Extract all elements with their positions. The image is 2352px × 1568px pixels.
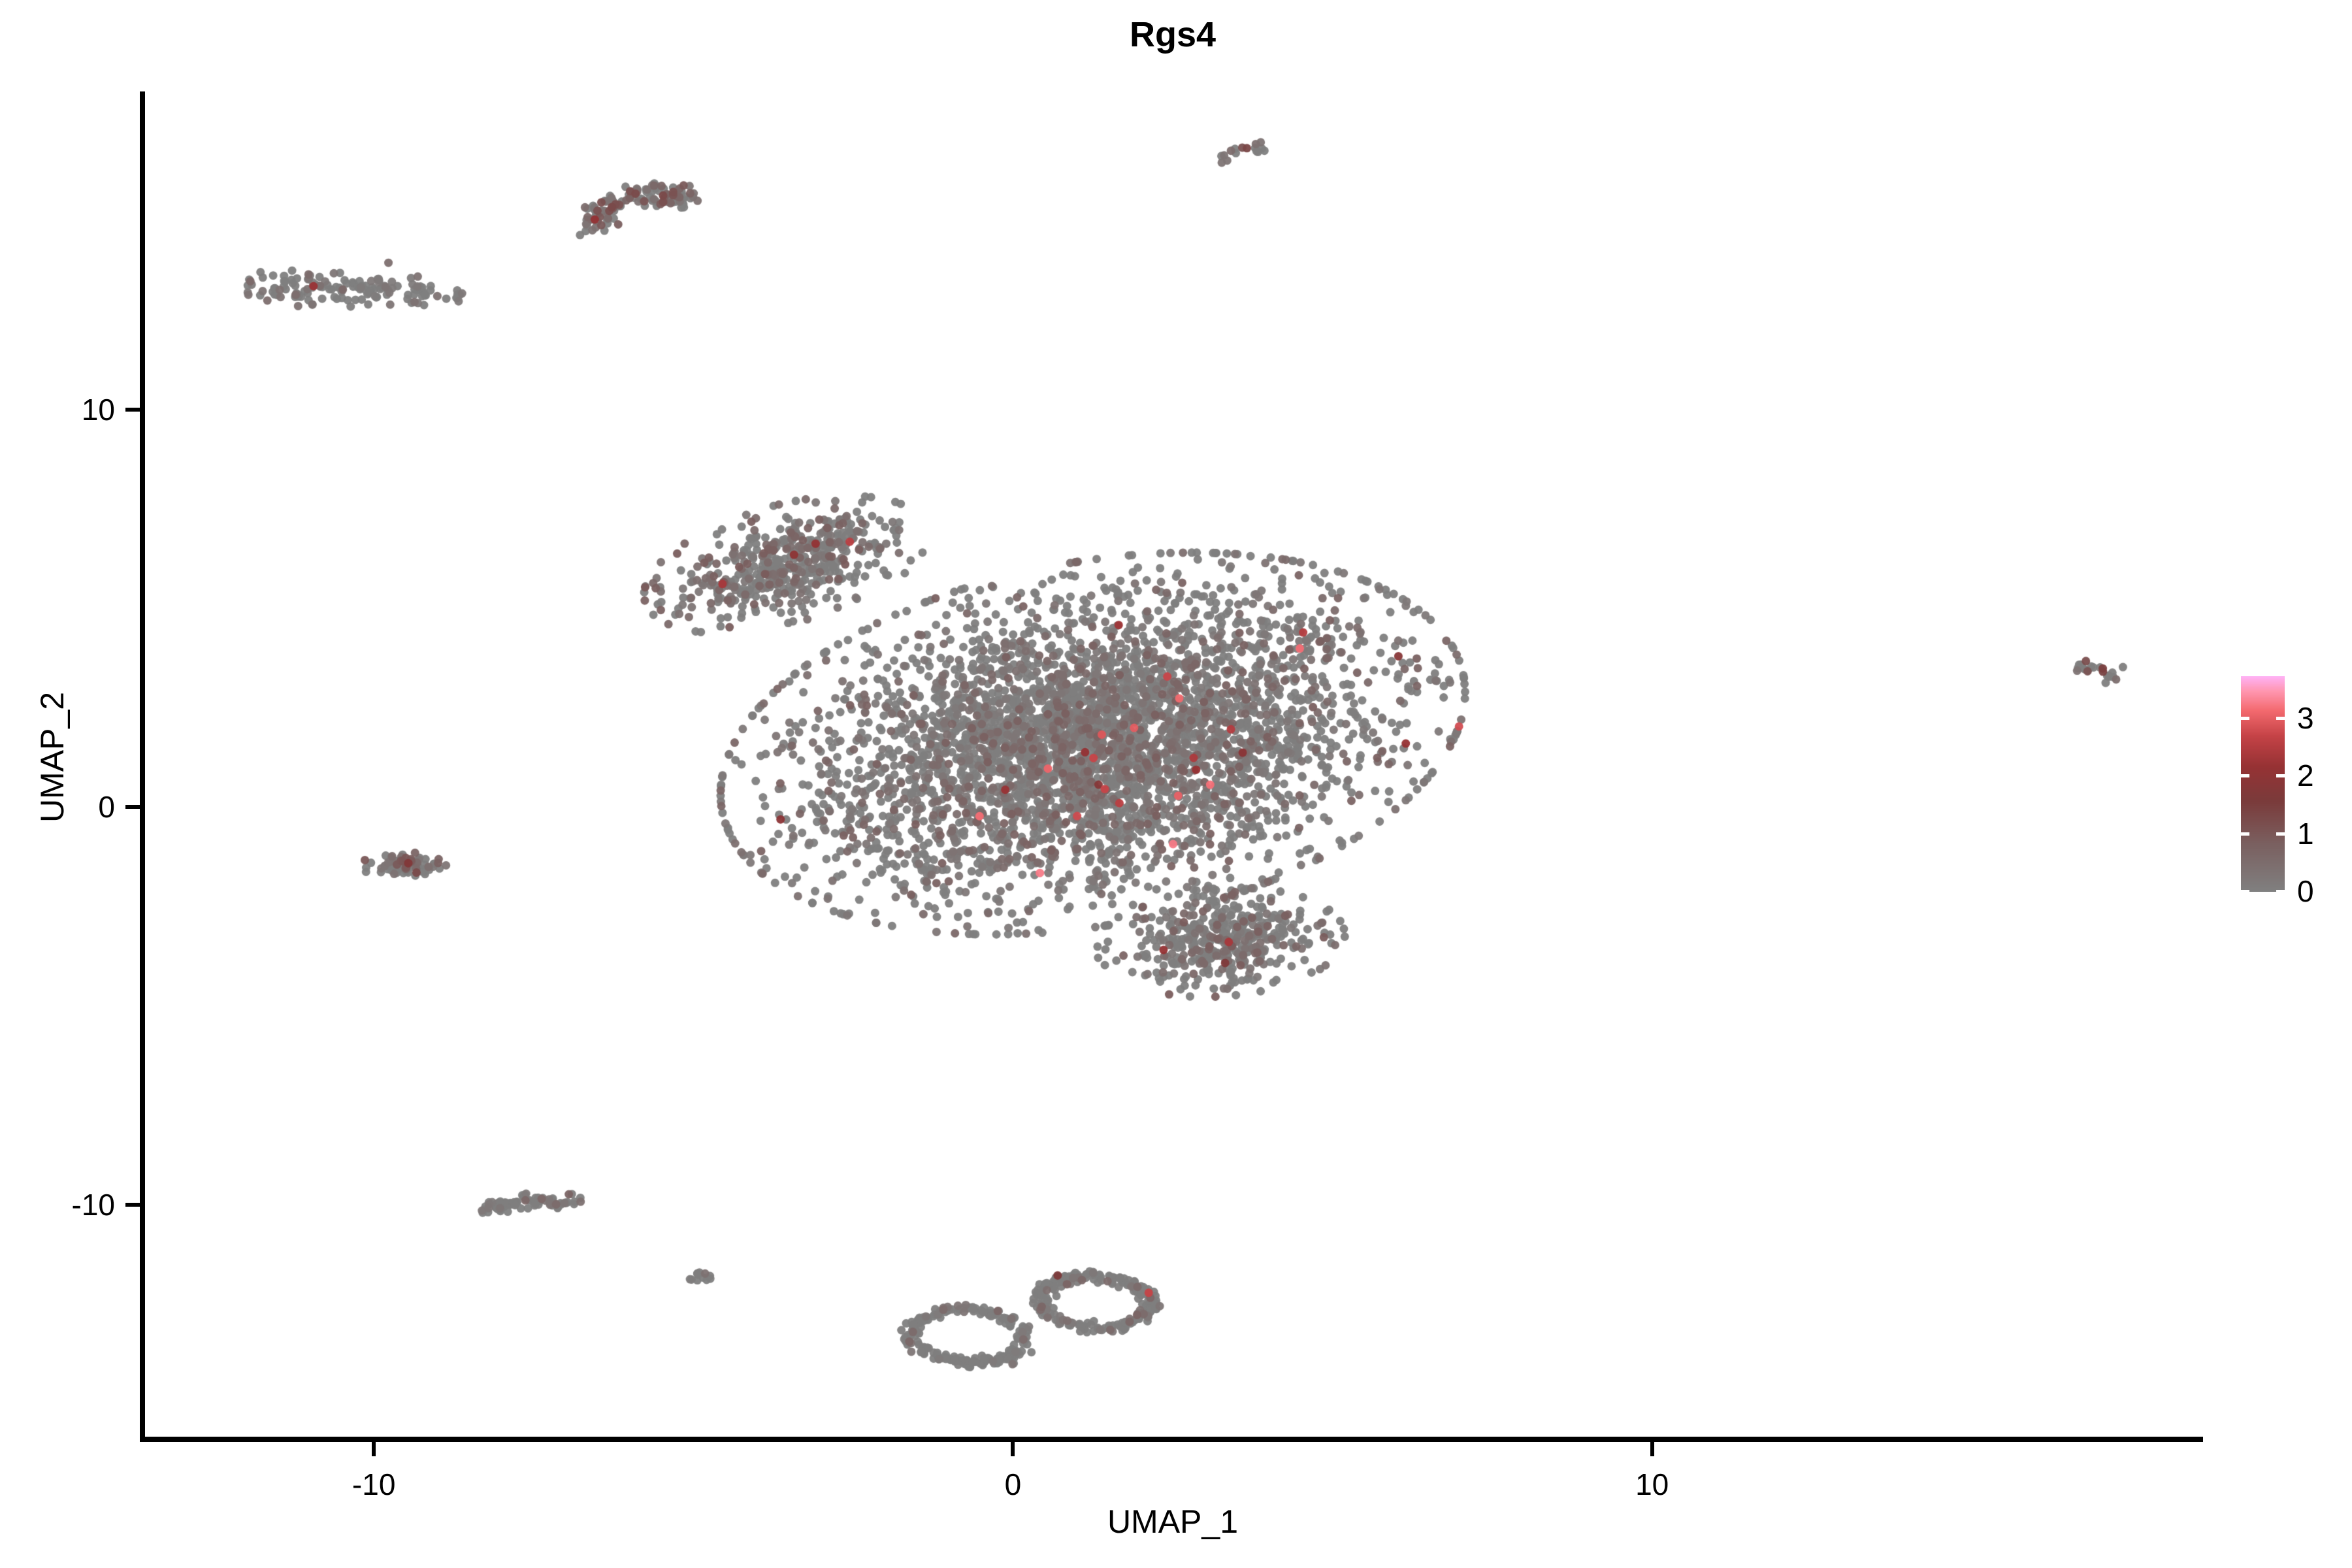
legend-label-2: 2: [2297, 758, 2314, 793]
legend-tick-3-left: [2241, 717, 2249, 720]
legend-tick-0-right: [2276, 890, 2285, 893]
legend-label-1: 1: [2297, 816, 2314, 851]
legend-label-0: 0: [2297, 874, 2314, 909]
legend-tick-1-left: [2241, 832, 2249, 836]
legend-tick-2-right: [2276, 774, 2285, 777]
legend-tick-3-right: [2276, 717, 2285, 720]
y-axis-title: UMAP_2: [33, 300, 71, 1215]
x-axis-tick-label-0: 0: [1005, 1467, 1022, 1502]
plot-title: Rgs4: [144, 14, 2202, 55]
legend-tick-0-left: [2241, 890, 2249, 893]
y-axis-tick-0: [125, 805, 140, 809]
legend-colorbar: [2241, 676, 2285, 892]
legend-tick-1-right: [2276, 832, 2285, 836]
legend-tick-2-left: [2241, 774, 2249, 777]
x-axis-title-text: UMAP_1: [1107, 1503, 1238, 1540]
y-axis-line: [140, 91, 145, 1442]
x-axis-line: [140, 1437, 2203, 1442]
x-axis-tick-label-10: 10: [1635, 1467, 1669, 1502]
y-axis-tick-10: [125, 408, 140, 412]
x-axis-tick-0: [1011, 1442, 1015, 1456]
scatter-points-canvas: [144, 91, 2202, 1439]
x-axis-tick-10: [1650, 1442, 1654, 1456]
x-axis-tick-neg10: [372, 1442, 376, 1456]
umap-feature-plot: Rgs4 10 0 -10 -10 0 10 UMAP_1 UMAP_2 3 2…: [0, 0, 2352, 1568]
legend-label-3: 3: [2297, 700, 2314, 736]
color-legend: 3 2 1 0: [2241, 676, 2339, 892]
plot-title-text: Rgs4: [1130, 15, 1216, 54]
y-axis-title-text: UMAP_2: [34, 692, 71, 823]
y-axis-tick-neg10: [125, 1203, 140, 1207]
x-axis-tick-label-neg10: -10: [352, 1467, 395, 1502]
plot-panel: [144, 91, 2202, 1439]
x-axis-title: UMAP_1: [144, 1503, 2202, 1541]
